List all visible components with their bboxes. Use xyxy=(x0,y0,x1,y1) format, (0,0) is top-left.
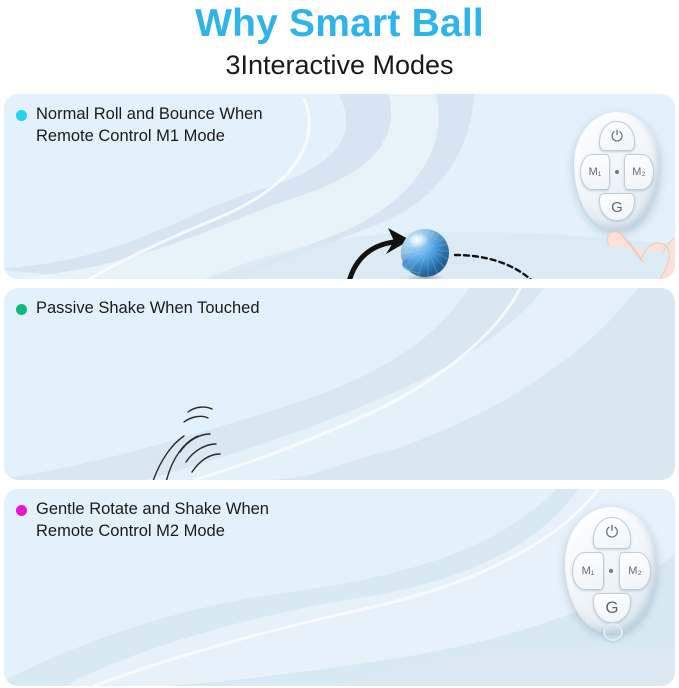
power-icon: ⏻ xyxy=(606,524,619,542)
ball-shadow xyxy=(405,274,445,279)
page-subtitle: 3Interactive Modes xyxy=(0,46,679,81)
panel-3-heading: Gentle Rotate and Shake When Remote Cont… xyxy=(16,498,269,542)
ball-highlight xyxy=(410,234,429,247)
panel-1-title: Normal Roll and Bounce When Remote Contr… xyxy=(36,103,263,147)
page-title: Why Smart Ball xyxy=(0,0,679,46)
hand-touch-lineart-icon xyxy=(150,406,260,480)
lanyard-loop xyxy=(603,623,623,641)
remote-center-dot xyxy=(615,170,619,174)
bullet-dot-magenta xyxy=(16,505,27,516)
remote-m1-button[interactable]: M₁ xyxy=(572,552,604,590)
remote-center-dot xyxy=(609,569,613,573)
panel-3-title: Gentle Rotate and Shake When Remote Cont… xyxy=(36,498,269,542)
remote-m1-label: M₁ xyxy=(582,565,595,577)
remote-m1-button[interactable]: M₁ xyxy=(580,154,610,190)
panel-2-heading: Passive Shake When Touched xyxy=(16,297,260,319)
remote-m2-label: M₂ xyxy=(632,166,645,178)
mode-panel-3: Gentle Rotate and Shake When Remote Cont… xyxy=(4,489,675,686)
remote-m1-label: M₁ xyxy=(589,166,602,178)
remote-g-label: G xyxy=(605,598,618,618)
mode-panel-1: Normal Roll and Bounce When Remote Contr… xyxy=(4,94,675,279)
hand-icon xyxy=(585,190,675,279)
bullet-dot-green xyxy=(16,304,27,315)
infographic-stage: Why Smart Ball 3Interactive Modes Normal… xyxy=(0,0,679,688)
dashed-path-arrow xyxy=(453,249,573,279)
remote-m2-label: M₂ xyxy=(628,565,641,577)
panel-2-title: Passive Shake When Touched xyxy=(36,297,260,319)
smart-ball-bounced xyxy=(401,229,449,277)
bullet-dot-cyan xyxy=(16,110,27,121)
remote-m2-button[interactable]: M₂ xyxy=(619,552,651,590)
ball-led-strip xyxy=(402,256,441,272)
remote-m2-button[interactable]: M₂ xyxy=(624,154,654,190)
panel-1-heading: Normal Roll and Bounce When Remote Contr… xyxy=(16,103,263,147)
remote-control-m2[interactable]: ⏻ M₁ M₂ G xyxy=(565,507,657,633)
header: Why Smart Ball 3Interactive Modes xyxy=(0,0,679,92)
mode-panel-2: Passive Shake When Touched xyxy=(4,288,675,480)
power-icon: ⏻ xyxy=(611,128,623,145)
